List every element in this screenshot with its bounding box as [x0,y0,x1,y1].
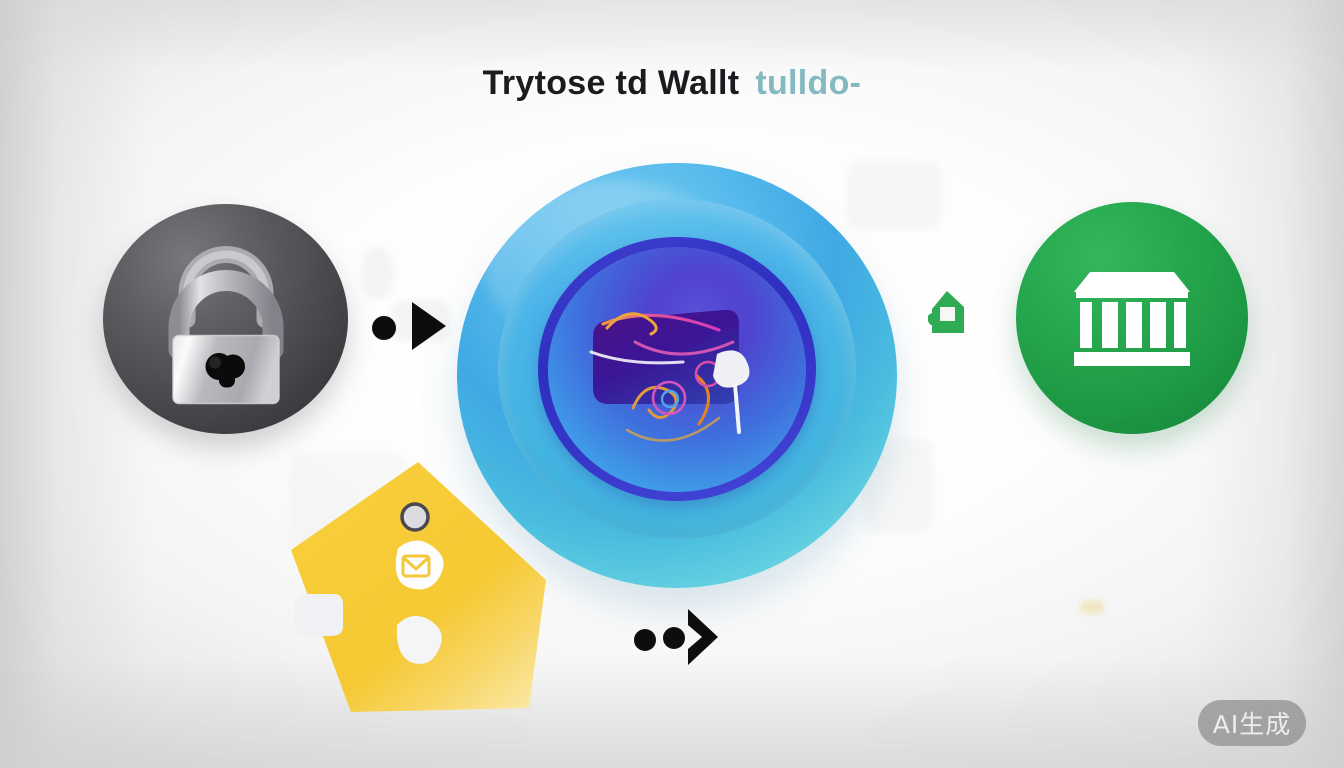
vignette-bottom [0,658,1344,768]
illustration-canvas: Trytose td Wallttulldo- [0,0,1344,768]
page-title: Trytose td Wallttulldo- [0,64,1344,103]
bank-building-icon [1066,266,1198,370]
title-main-text: Trytose td Wallt [483,64,740,102]
vignette-top [0,0,1344,70]
title-accent-text: tulldo- [755,64,861,102]
orb-core [548,247,806,492]
orb-accent-ring [538,237,815,501]
house-icon [928,289,966,337]
watermark-badge: AI生成 [1198,700,1306,746]
lock-badge[interactable] [103,204,348,434]
pentagon-card-icon[interactable] [285,458,550,720]
padlock-icon [151,232,301,407]
arrow-right-icon [634,605,720,667]
watermark-label: AI生成 [1213,705,1291,741]
bank-badge[interactable] [1016,202,1248,434]
wallet-icon [571,280,783,458]
background-blob-6 [1080,600,1104,614]
arrow-right-icon [370,292,450,354]
